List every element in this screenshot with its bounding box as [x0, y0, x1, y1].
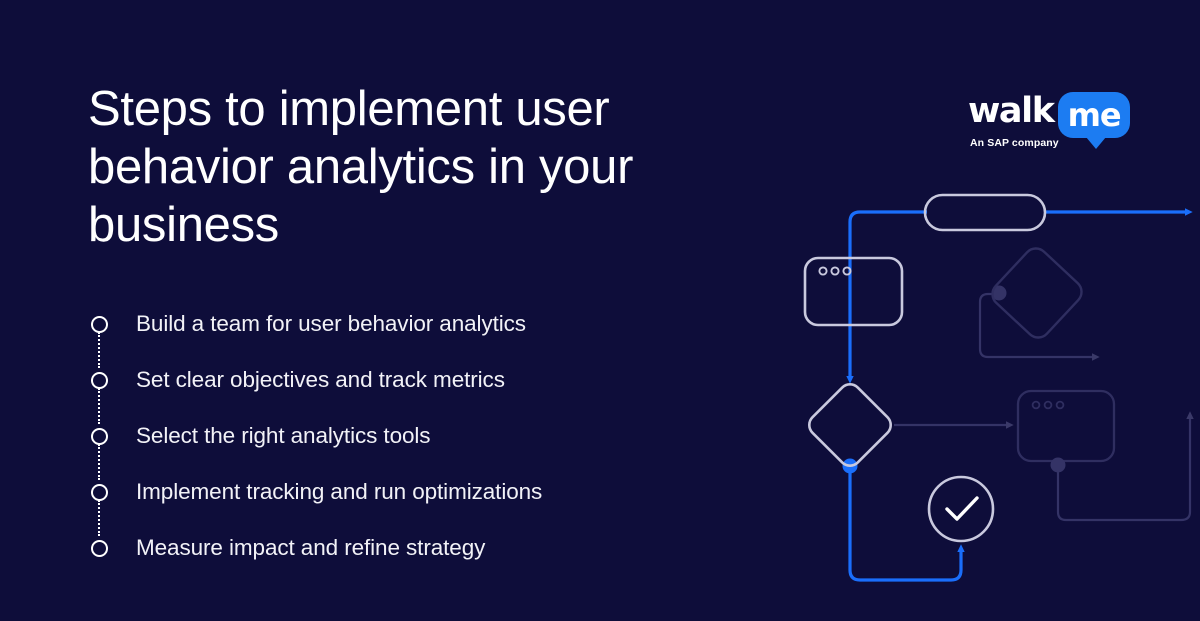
list-item-label: Measure impact and refine strategy	[136, 534, 485, 562]
circle-outline-icon	[91, 484, 108, 501]
faint-connector-dot	[992, 286, 1007, 301]
logo-tagline: An SAP company	[970, 137, 1059, 149]
headline-block: Steps to implement user behavior analyti…	[88, 80, 748, 254]
slide-canvas: Steps to implement user behavior analyti…	[0, 0, 1200, 621]
logo-wordmark-row: walk me	[968, 92, 1140, 138]
browser-window-node	[805, 258, 902, 325]
list-item: Implement tracking and run optimizations	[88, 464, 708, 520]
list-item-label: Set clear objectives and track metrics	[136, 366, 505, 394]
faint-browser-window-node	[1018, 391, 1114, 461]
step-marker	[88, 296, 110, 352]
logo-wordmark-text: walk	[968, 92, 1054, 130]
faint-path-lower	[1051, 415, 1191, 520]
blue-path-to-check	[843, 459, 962, 581]
circle-outline-icon	[91, 316, 108, 333]
dotted-connector-icon	[98, 500, 100, 536]
faint-path-upper	[980, 286, 1096, 358]
pill-node	[925, 195, 1045, 230]
list-item-label: Select the right analytics tools	[136, 422, 430, 450]
check-icon	[947, 498, 977, 519]
blue-path-main	[850, 212, 927, 380]
faint-diamond-node	[988, 244, 1087, 343]
logo-bubble-text: me	[1068, 98, 1121, 132]
dotted-connector-icon	[98, 444, 100, 480]
circle-outline-icon	[91, 540, 108, 557]
success-check-node	[929, 477, 993, 541]
list-item-label: Build a team for user behavior analytics	[136, 310, 526, 338]
list-item: Measure impact and refine strategy	[88, 520, 708, 576]
dotted-connector-icon	[98, 332, 100, 368]
decision-diamond-node	[805, 380, 896, 471]
speech-bubble-icon: me	[1058, 92, 1130, 138]
list-item-label: Implement tracking and run optimizations	[136, 478, 542, 506]
circle-outline-icon	[91, 372, 108, 389]
circle-outline-icon	[91, 428, 108, 445]
list-item: Select the right analytics tools	[88, 408, 708, 464]
blue-connector-dot	[843, 459, 858, 474]
page-title: Steps to implement user behavior analyti…	[88, 80, 728, 254]
faint-connector-dot	[1051, 458, 1066, 473]
walkme-logo[interactable]: walk me An SAP company	[968, 92, 1140, 160]
list-item: Build a team for user behavior analytics	[88, 296, 708, 352]
dotted-connector-icon	[98, 388, 100, 424]
steps-list: Build a team for user behavior analytics…	[88, 296, 708, 576]
list-item: Set clear objectives and track metrics	[88, 352, 708, 408]
